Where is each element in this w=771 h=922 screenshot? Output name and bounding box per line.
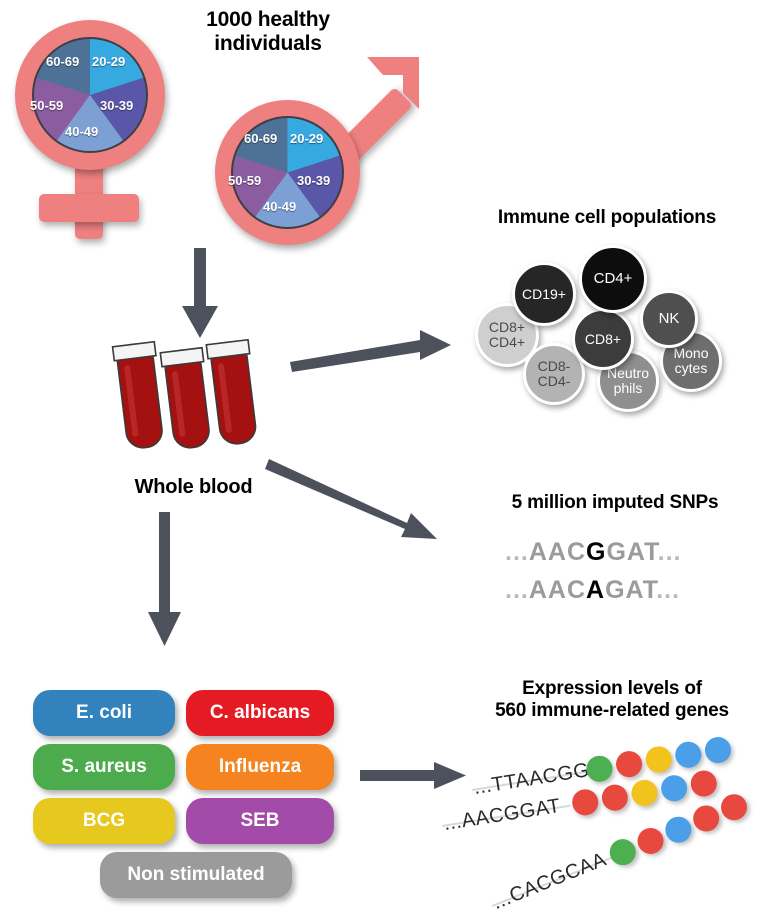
female-age-label-40-49: 40-49 xyxy=(65,124,98,139)
cohort-title-line1: 1000 healthy xyxy=(168,8,368,32)
cohort-title: 1000 healthy individuals xyxy=(168,8,368,57)
snp-row1-prefix: ... xyxy=(505,538,529,566)
expression-title-line1: Expression levels of xyxy=(462,678,762,700)
stimulus-box-seb[interactable]: SEB xyxy=(186,798,334,844)
snp-row2-variant: A xyxy=(586,576,605,604)
immune-bubble-nk: NK xyxy=(640,290,698,348)
immune-bubble-cd8p-cd4p: CD8+ CD4+ xyxy=(475,303,539,367)
immune-bubble-cd8n-cd4n-line1: CD8- xyxy=(538,359,571,374)
gene-strand-2-bead-5 xyxy=(689,769,719,799)
male-symbol-arrowhead xyxy=(345,53,425,133)
gene-strand-1-bead-3 xyxy=(644,745,674,775)
female-age-label-20-29: 20-29 xyxy=(92,54,125,69)
arrow-down-cohort-to-blood xyxy=(178,248,222,340)
immune-bubble-cd8n-cd4n: CD8- CD4- xyxy=(523,343,585,405)
gene-strand-3-bead-4 xyxy=(689,802,723,836)
arrow-stimuli-to-expression xyxy=(360,758,470,794)
gene-strand-3-bead-2 xyxy=(634,824,668,858)
expression-title-line2: 560 immune-related genes xyxy=(462,700,762,722)
female-age-label-30-39: 30-39 xyxy=(100,98,133,113)
immune-bubble-nk-label: NK xyxy=(659,311,680,327)
gene-strand-2-bead-4 xyxy=(659,773,689,803)
immune-bubble-neutrophils: Neutro phils xyxy=(597,350,659,412)
stimulus-box-bcg[interactable]: BCG xyxy=(33,798,175,844)
immune-populations-title: Immune cell populations xyxy=(452,207,762,229)
snp-sequence-row-2: ...AACAGAT... xyxy=(505,576,680,605)
expression-title: Expression levels of 560 immune-related … xyxy=(462,678,762,722)
immune-bubble-cd8p: CD8+ xyxy=(572,308,634,370)
snp-row2-prefix: ... xyxy=(505,576,529,604)
stimulus-label-bcg: BCG xyxy=(83,810,125,832)
stimulus-box-influenza[interactable]: Influenza xyxy=(186,744,334,790)
immune-bubble-cd4p-label: CD4+ xyxy=(594,271,633,287)
snp-row2-post: GAT xyxy=(605,576,656,604)
arrow-blood-to-immune-cells xyxy=(288,326,453,374)
gene-strand-2-sequence: ...AACGGAT xyxy=(442,795,562,836)
immune-bubble-cd8p-cd4p-line1: CD8+ xyxy=(489,320,525,335)
snp-row1-suffix: ... xyxy=(658,538,682,566)
female-age-label-50-59: 50-59 xyxy=(30,98,63,113)
immune-bubble-cd19p-label: CD19+ xyxy=(522,287,566,302)
stimulus-label-seb: SEB xyxy=(240,810,279,832)
stimulus-box-s-aureus[interactable]: S. aureus xyxy=(33,744,175,790)
cohort-title-line2: individuals xyxy=(168,32,368,56)
gene-strand-3-bead-5 xyxy=(717,790,751,824)
gene-strand-3-bead-1 xyxy=(606,835,640,869)
immune-bubble-cd19p: CD19+ xyxy=(512,262,576,326)
male-age-label-40-49: 40-49 xyxy=(263,199,296,214)
snp-row1-pre: AAC xyxy=(529,538,586,566)
arrow-blood-to-snps xyxy=(265,447,445,547)
immune-bubble-neutrophils-line1: Neutro xyxy=(607,366,649,381)
snp-sequence-row-1: ...AACGGAT... xyxy=(505,538,681,567)
gene-strand-2-bead-1 xyxy=(570,787,600,817)
gene-strand-2-bead-3 xyxy=(630,778,660,808)
figure-canvas: 1000 healthy individuals 20-29 30-39 40-… xyxy=(0,0,771,922)
stimulus-label-e-coli: E. coli xyxy=(76,702,132,724)
immune-bubble-cd8n-cd4n-line2: CD4- xyxy=(538,374,571,389)
stimulus-label-s-aureus: S. aureus xyxy=(61,756,147,778)
stimulus-box-c-albicans[interactable]: C. albicans xyxy=(186,690,334,736)
female-age-label-60-69: 60-69 xyxy=(46,54,79,69)
female-symbol-crossbar xyxy=(39,194,139,222)
gene-strand-3-sequence: ...CACGCAA xyxy=(490,848,610,914)
male-age-label-50-59: 50-59 xyxy=(228,173,261,188)
gene-strand-3-bead-3 xyxy=(661,813,695,847)
stimulus-box-non-stimulated[interactable]: Non stimulated xyxy=(100,852,292,898)
blood-tubes-group xyxy=(104,338,284,458)
immune-bubble-monocytes-line2: cytes xyxy=(673,361,708,376)
gene-strand-2-bead-2 xyxy=(600,783,630,813)
stimulus-label-c-albicans: C. albicans xyxy=(210,702,310,724)
female-symbol: 20-29 30-39 40-49 50-59 60-69 xyxy=(8,14,188,239)
immune-bubble-monocytes-line1: Mono xyxy=(673,346,708,361)
snp-row2-suffix: ... xyxy=(656,576,680,604)
snps-title: 5 million imputed SNPs xyxy=(470,492,760,514)
male-age-label-30-39: 30-39 xyxy=(297,173,330,188)
stimulus-label-influenza: Influenza xyxy=(219,756,301,778)
immune-bubble-cd4p: CD4+ xyxy=(579,245,647,313)
snp-row2-pre: AAC xyxy=(529,576,586,604)
immune-bubble-cd8p-cd4p-line2: CD4+ xyxy=(489,335,525,350)
stimulus-box-e-coli[interactable]: E. coli xyxy=(33,690,175,736)
immune-bubble-neutrophils-line2: phils xyxy=(607,381,649,396)
snp-row1-post: GAT xyxy=(606,538,657,566)
stimulus-label-non-stimulated: Non stimulated xyxy=(127,864,264,886)
male-age-label-60-69: 60-69 xyxy=(244,131,277,146)
gene-strand-1-bead-2 xyxy=(614,749,644,779)
male-symbol: 20-29 30-39 40-49 50-59 60-69 xyxy=(205,55,420,250)
snp-row1-variant: G xyxy=(586,538,606,566)
gene-strand-1-bead-4 xyxy=(673,740,703,770)
immune-bubble-monocytes: Mono cytes xyxy=(660,330,722,392)
arrow-down-blood-to-stimuli xyxy=(143,512,187,648)
immune-bubble-cd8p-label: CD8+ xyxy=(585,332,621,347)
male-age-label-20-29: 20-29 xyxy=(290,131,323,146)
gene-strand-1-bead-5 xyxy=(703,735,733,765)
